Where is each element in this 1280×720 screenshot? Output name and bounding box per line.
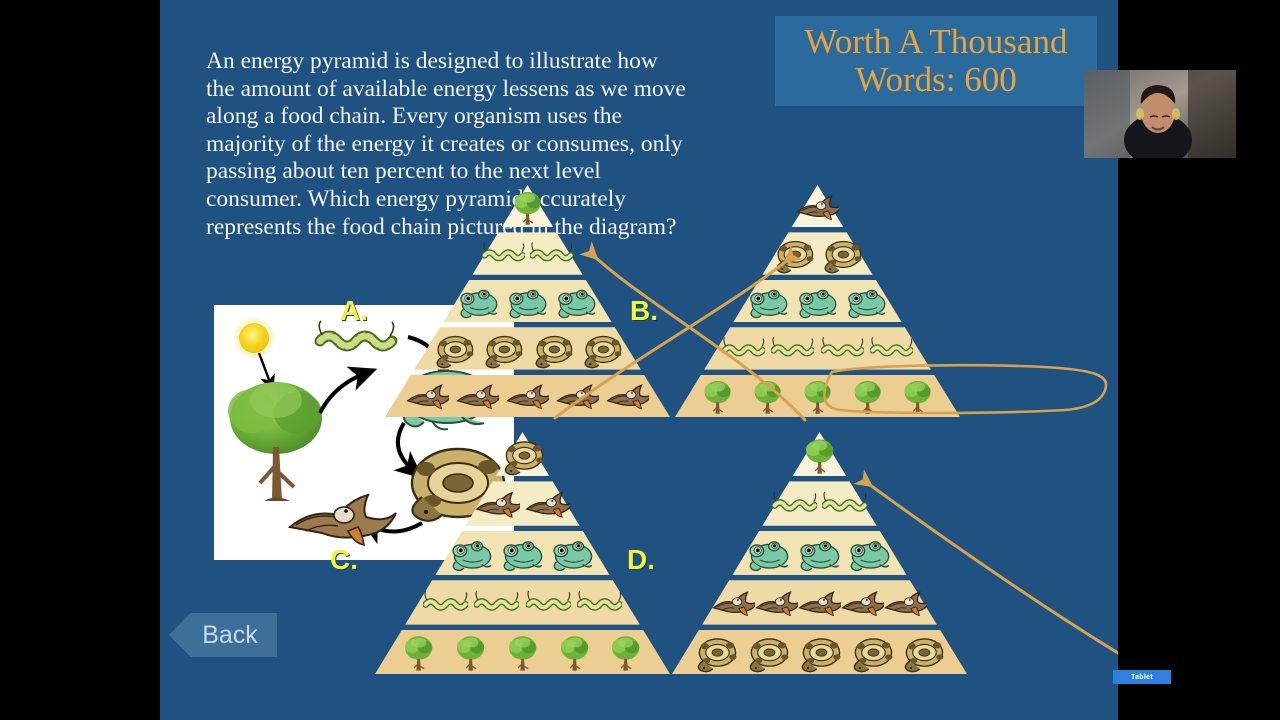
organism-row [675,185,960,227]
organism-row [675,375,960,417]
snake-icon [481,327,524,370]
organism-row [672,432,967,476]
hawk-icon [556,374,599,417]
arrow-sun-tree [259,353,271,385]
caterpillar-icon [771,327,814,370]
tree-icon [228,382,322,501]
caterpillar-icon [482,232,525,275]
tree-icon [396,629,441,674]
organism-row [375,432,670,476]
pyramid-level-snake [375,432,670,476]
title-line-1: Worth A Thousand [805,23,1068,61]
organism-row [675,327,960,369]
pyramid-level-frog [672,531,967,575]
snake-icon [580,327,623,370]
organism-row [672,580,967,624]
pyramid-label: D. [627,544,655,576]
organism-row [675,280,960,322]
hawk-icon [712,581,755,624]
hawk-icon [884,581,927,624]
tree-icon [552,629,597,674]
snake-icon [745,629,790,674]
pyramid-level-tree [672,432,967,476]
pyramid-level-frog [375,531,670,575]
hawk-icon [796,185,839,228]
pyramid-level-snake [385,327,670,369]
organism-row [672,630,967,674]
tree-icon [506,185,549,228]
caterpillar-icon [821,327,864,370]
pyramid-label: A. [340,295,368,327]
title-line-2: Words: 600 [855,61,1016,99]
caterpillar-icon [526,580,571,625]
pyramid-level-snake [675,232,960,274]
caterpillar-icon [870,327,913,370]
pyramid-level-hawk [672,580,967,624]
hawk-icon [406,374,449,417]
snake-icon [432,327,475,370]
snake-icon [772,232,815,275]
tree-icon [796,374,839,417]
organism-row [385,232,670,274]
frog-icon [500,530,545,575]
organism-row [385,185,670,227]
pyramid-level-tree [385,185,670,227]
caterpillar-icon [423,580,468,625]
snake-icon [820,232,863,275]
organism-row [675,232,960,274]
caterpillar-icon [822,481,867,526]
pyramid-level-frog [385,280,670,322]
hawk-icon [506,374,549,417]
organism-row [375,580,670,624]
frog-icon [506,279,549,322]
frog-icon [555,279,598,322]
caterpillar-icon [530,232,573,275]
tree-icon [746,374,789,417]
frog-icon [550,530,595,575]
tree-icon [797,432,842,477]
organism-row [385,280,670,322]
pyramid-level-hawk [375,481,670,525]
tree-icon [846,374,889,417]
snake-icon [693,629,738,674]
caterpillar-icon [577,580,622,625]
snake-icon [797,629,842,674]
arrow-tree-caterpillar [320,373,366,413]
caterpillar-icon [474,580,519,625]
pyramid-label: C. [330,544,358,576]
pyramid-level-caterpillar [375,580,670,624]
tablet-badge[interactable]: Tablet [1113,670,1171,684]
title-banner: Worth A Thousand Words: 600 [775,16,1097,106]
snake-icon [531,327,574,370]
pyramid-d[interactable]: D. [672,432,967,674]
pyramid-c[interactable]: C. [375,432,670,674]
pyramid-level-hawk [675,185,960,227]
back-button-label: Back [169,613,277,657]
pyramid-label: B. [630,295,658,327]
pyramid-level-caterpillar [385,232,670,274]
frog-icon [746,530,791,575]
hawk-icon [798,581,841,624]
hawk-icon [841,581,884,624]
pyramid-a[interactable]: A. [385,185,670,417]
frog-icon [796,279,839,322]
frog-icon [457,279,500,322]
pyramid-level-caterpillar [675,327,960,369]
organism-row [385,327,670,369]
organism-row [385,375,670,417]
snake-icon [900,629,945,674]
presenter-webcam[interactable] [1084,70,1236,158]
pyramid-level-hawk [385,375,670,417]
organism-row [375,481,670,525]
screen: Worth A Thousand Words: 600 An energy py… [0,0,1280,720]
hawk-icon [475,481,520,526]
snake-icon [500,432,545,477]
pyramid-b[interactable]: B. [675,185,960,417]
hawk-icon [755,581,798,624]
organism-row [375,630,670,674]
hawk-icon [525,481,570,526]
tree-icon [896,374,939,417]
frog-icon [845,279,888,322]
organism-row [672,531,967,575]
frog-icon [449,530,494,575]
presentation-slide: Worth A Thousand Words: 600 An energy py… [160,0,1118,720]
pyramid-level-snake [672,630,967,674]
tree-icon [500,629,545,674]
snake-icon [849,629,894,674]
frog-icon [797,530,842,575]
pyramid-level-frog [675,280,960,322]
sun-icon [234,318,274,358]
hawk-icon [456,374,499,417]
pyramid-level-tree [375,630,670,674]
back-button[interactable]: Back [169,613,277,657]
hawk-icon [606,374,649,417]
tree-icon [603,629,648,674]
pyramid-level-tree [675,375,960,417]
frog-icon [747,279,790,322]
caterpillar-icon [772,481,817,526]
tree-icon [448,629,493,674]
organism-row [672,481,967,525]
organism-row [375,531,670,575]
tree-icon [696,374,739,417]
caterpillar-icon [722,327,765,370]
pyramid-level-caterpillar [672,481,967,525]
frog-icon [847,530,892,575]
